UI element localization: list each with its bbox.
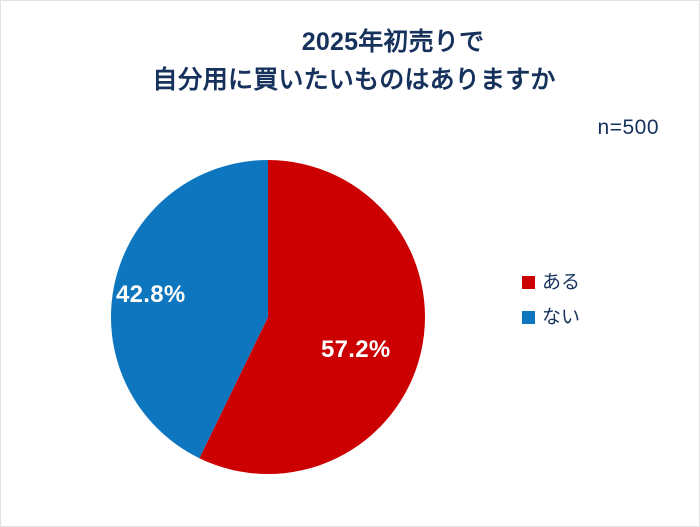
legend-swatch-aru bbox=[522, 276, 535, 289]
page-title: 2025年初売りで 自分用に買いたいものはありますか bbox=[1, 23, 700, 99]
pie-label-aru: 57.2% bbox=[321, 336, 391, 364]
pie-label-nai: 42.8% bbox=[116, 281, 186, 309]
legend: ある ない bbox=[522, 265, 580, 335]
page-title-line-2: 自分用に買いたいものはありますか bbox=[1, 61, 700, 99]
legend-label-nai: ない bbox=[542, 308, 580, 327]
page-title-line-1: 2025年初売りで bbox=[1, 23, 700, 61]
legend-item-nai[interactable]: ない bbox=[522, 300, 580, 335]
pie-svg bbox=[111, 160, 425, 474]
legend-swatch-nai bbox=[522, 311, 535, 324]
sample-size-note: n=500 bbox=[598, 116, 659, 140]
chart-canvas: 2025年初売りで 自分用に買いたいものはありますか n=500 57.2% 4… bbox=[0, 0, 700, 527]
pie-chart: 57.2% 42.8% bbox=[111, 160, 425, 474]
legend-item-aru[interactable]: ある bbox=[522, 265, 580, 300]
legend-label-aru: ある bbox=[542, 273, 580, 292]
